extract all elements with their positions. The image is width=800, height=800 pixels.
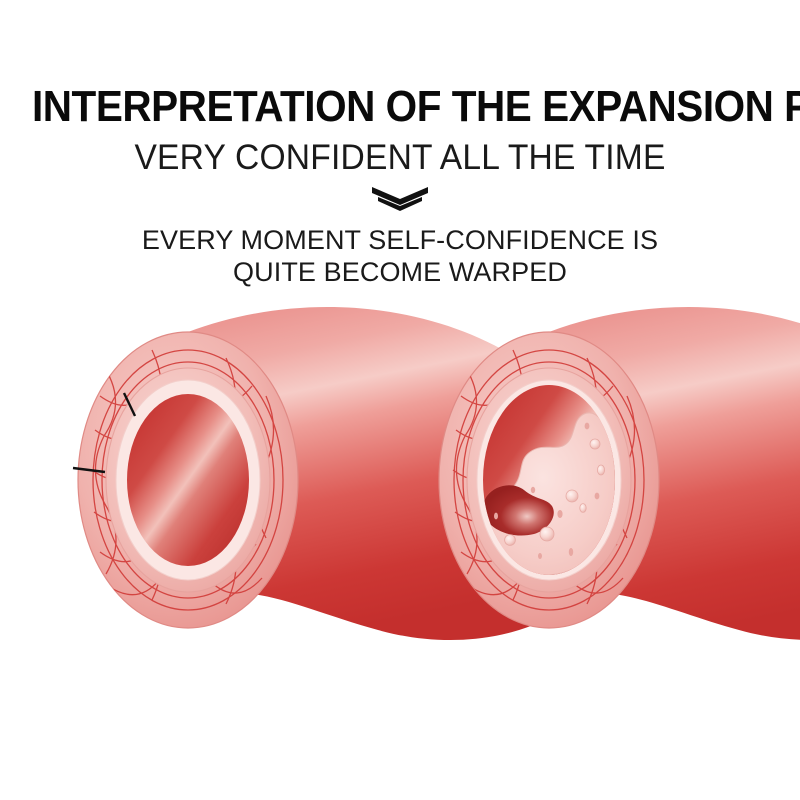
page-subtitle: VERY CONFIDENT ALL THE TIME <box>16 138 784 178</box>
double-chevron-down-icon <box>368 185 432 213</box>
vessel-lumen-left <box>127 394 249 566</box>
tagline: EVERY MOMENT SELF-CONFIDENCE IS QUITE BE… <box>0 224 800 288</box>
divider <box>0 184 800 214</box>
panel-blocked-vessel <box>439 307 800 640</box>
tagline-line-1: EVERY MOMENT SELF-CONFIDENCE IS <box>0 224 800 256</box>
tagline-line-2: QUITE BECOME WARPED <box>0 256 800 288</box>
vessel-illustration <box>0 300 800 660</box>
page-title: INTERPRETATION OF THE EXPANSION PRINCIPL… <box>32 84 768 130</box>
poster-root: INTERPRETATION OF THE EXPANSION PRINCIPL… <box>0 0 800 800</box>
